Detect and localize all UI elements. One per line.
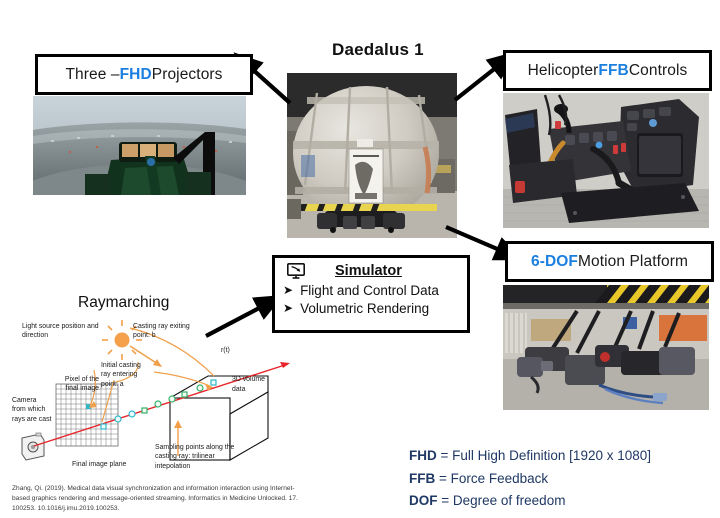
photo-helicopter-controls <box>503 93 709 228</box>
arrow-to-projectors <box>251 68 290 103</box>
simulator-header: Simulator <box>283 263 459 279</box>
caption-pixel: Pixel of the final image <box>55 375 99 394</box>
label-motion-highlight: 6-DOF <box>531 253 578 271</box>
caption-entering-point: Initial casting ray entering point: a <box>101 361 147 389</box>
label-projectors-highlight: FHD <box>120 66 152 84</box>
abbrev-row: DOF = Degree of freedom <box>409 490 651 513</box>
label-helicopter-ffb-controls: Helicopter FFB Controls <box>503 50 712 91</box>
abbrev-row: FFB = Force Feedback <box>409 468 651 491</box>
list-item: ➤ Volumetric Rendering <box>283 300 459 318</box>
label-controls-highlight: FFB <box>598 62 628 80</box>
caption-ray-label: r(t) <box>221 346 230 355</box>
simulator-box: Simulator ➤ Flight and Control Data ➤ Vo… <box>272 255 470 333</box>
arrow-to-controls <box>455 66 498 100</box>
citation-text: Zhang, Qi. (2019). Medical data visual s… <box>12 484 312 514</box>
abbrev-value: = Force Feedback <box>435 471 548 486</box>
label-three-fhd-projectors: Three – FHD Projectors <box>35 54 253 95</box>
caption-volume-data: 3D volume data <box>232 375 266 396</box>
simulator-title: Simulator <box>335 263 402 279</box>
caption-sampling-points: Sampling points along the casting ray: t… <box>155 443 241 471</box>
abbrev-key: FFB <box>409 471 435 486</box>
label-projectors-post: Projectors <box>152 66 223 84</box>
simulator-item-label: Flight and Control Data <box>300 282 439 300</box>
abbrev-key: DOF <box>409 493 438 508</box>
abbrev-key: FHD <box>409 448 437 463</box>
monitor-presentation-icon <box>287 263 305 279</box>
caption-camera: Camera from which rays are cast <box>12 396 52 424</box>
simulator-feature-list: ➤ Flight and Control Data ➤ Volumetric R… <box>283 282 459 318</box>
caption-light-source: Light source position and direction <box>22 322 102 341</box>
label-projectors-pre: Three – <box>65 66 119 84</box>
caption-exiting-point: Casting ray exiting point: b <box>133 322 199 341</box>
simulator-item-label: Volumetric Rendering <box>300 300 429 318</box>
photo-dome-simulator <box>287 73 457 238</box>
camera-icon <box>22 433 44 460</box>
label-6dof-motion-platform: 6-DOF Motion Platform <box>505 241 714 282</box>
abbrev-value: = Full High Definition [1920 x 1080] <box>437 448 651 463</box>
slide-canvas: Three – FHD Projectors <box>0 0 720 518</box>
label-controls-pre: Helicopter <box>528 62 599 80</box>
page-title: Daedalus 1 <box>332 40 424 60</box>
label-motion-post: Motion Platform <box>578 253 688 271</box>
abbrev-row: FHD = Full High Definition [1920 x 1080] <box>409 445 651 468</box>
photo-projector-view <box>33 96 246 195</box>
photo-motion-platform <box>503 285 709 410</box>
raymarching-title: Raymarching <box>78 294 169 312</box>
bullet-arrow-icon: ➤ <box>283 282 293 298</box>
abbrev-value: = Degree of freedom <box>438 493 566 508</box>
bullet-arrow-icon: ➤ <box>283 300 293 316</box>
abbreviations-legend: FHD = Full High Definition [1920 x 1080]… <box>409 445 651 513</box>
list-item: ➤ Flight and Control Data <box>283 282 459 300</box>
label-controls-post: Controls <box>629 62 688 80</box>
caption-image-plane: Final image plane <box>72 460 126 469</box>
